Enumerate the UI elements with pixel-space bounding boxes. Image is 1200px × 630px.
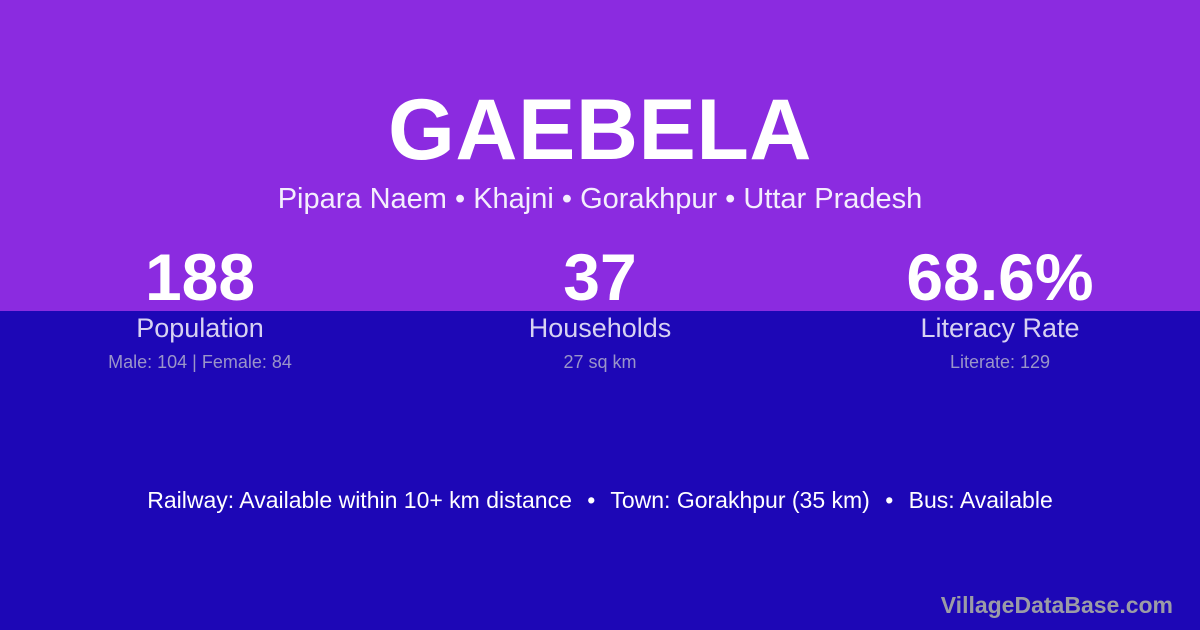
stat-label-population: Population: [0, 313, 400, 343]
stat-label-literacy-rate: Literacy Rate: [800, 313, 1200, 343]
stat-value-households: 37: [400, 245, 800, 309]
stat-value-literacy-rate: 68.6%: [800, 245, 1200, 309]
stat-population: 188 Population Male: 104 | Female: 84: [0, 245, 400, 372]
stat-label-households: Households: [400, 313, 800, 343]
breadcrumb: Pipara Naem • Khajni • Gorakhpur • Uttar…: [0, 182, 1200, 217]
info-railway: Railway: Available within 10+ km distanc…: [147, 487, 572, 513]
village-info-card: GAEBELA Pipara Naem • Khajni • Gorakhpur…: [0, 0, 1200, 630]
info-bus: Bus: Available: [909, 487, 1053, 513]
stats-row: 188 Population Male: 104 | Female: 84 37…: [0, 245, 1200, 372]
stat-sub-literacy-rate: Literate: 129: [800, 352, 1200, 372]
stat-sub-households: 27 sq km: [400, 352, 800, 372]
stat-sub-population: Male: 104 | Female: 84: [0, 352, 400, 372]
site-brand: VillageDataBase.com: [941, 591, 1173, 619]
info-separator-2: •: [876, 486, 902, 514]
connectivity-info-line: Railway: Available within 10+ km distanc…: [0, 486, 1200, 514]
page-title: GAEBELA: [0, 87, 1200, 173]
info-separator-1: •: [578, 486, 604, 514]
stat-households: 37 Households 27 sq km: [400, 245, 800, 372]
stat-value-population: 188: [0, 245, 400, 309]
info-town: Town: Gorakhpur (35 km): [610, 487, 869, 513]
stat-literacy-rate: 68.6% Literacy Rate Literate: 129: [800, 245, 1200, 372]
